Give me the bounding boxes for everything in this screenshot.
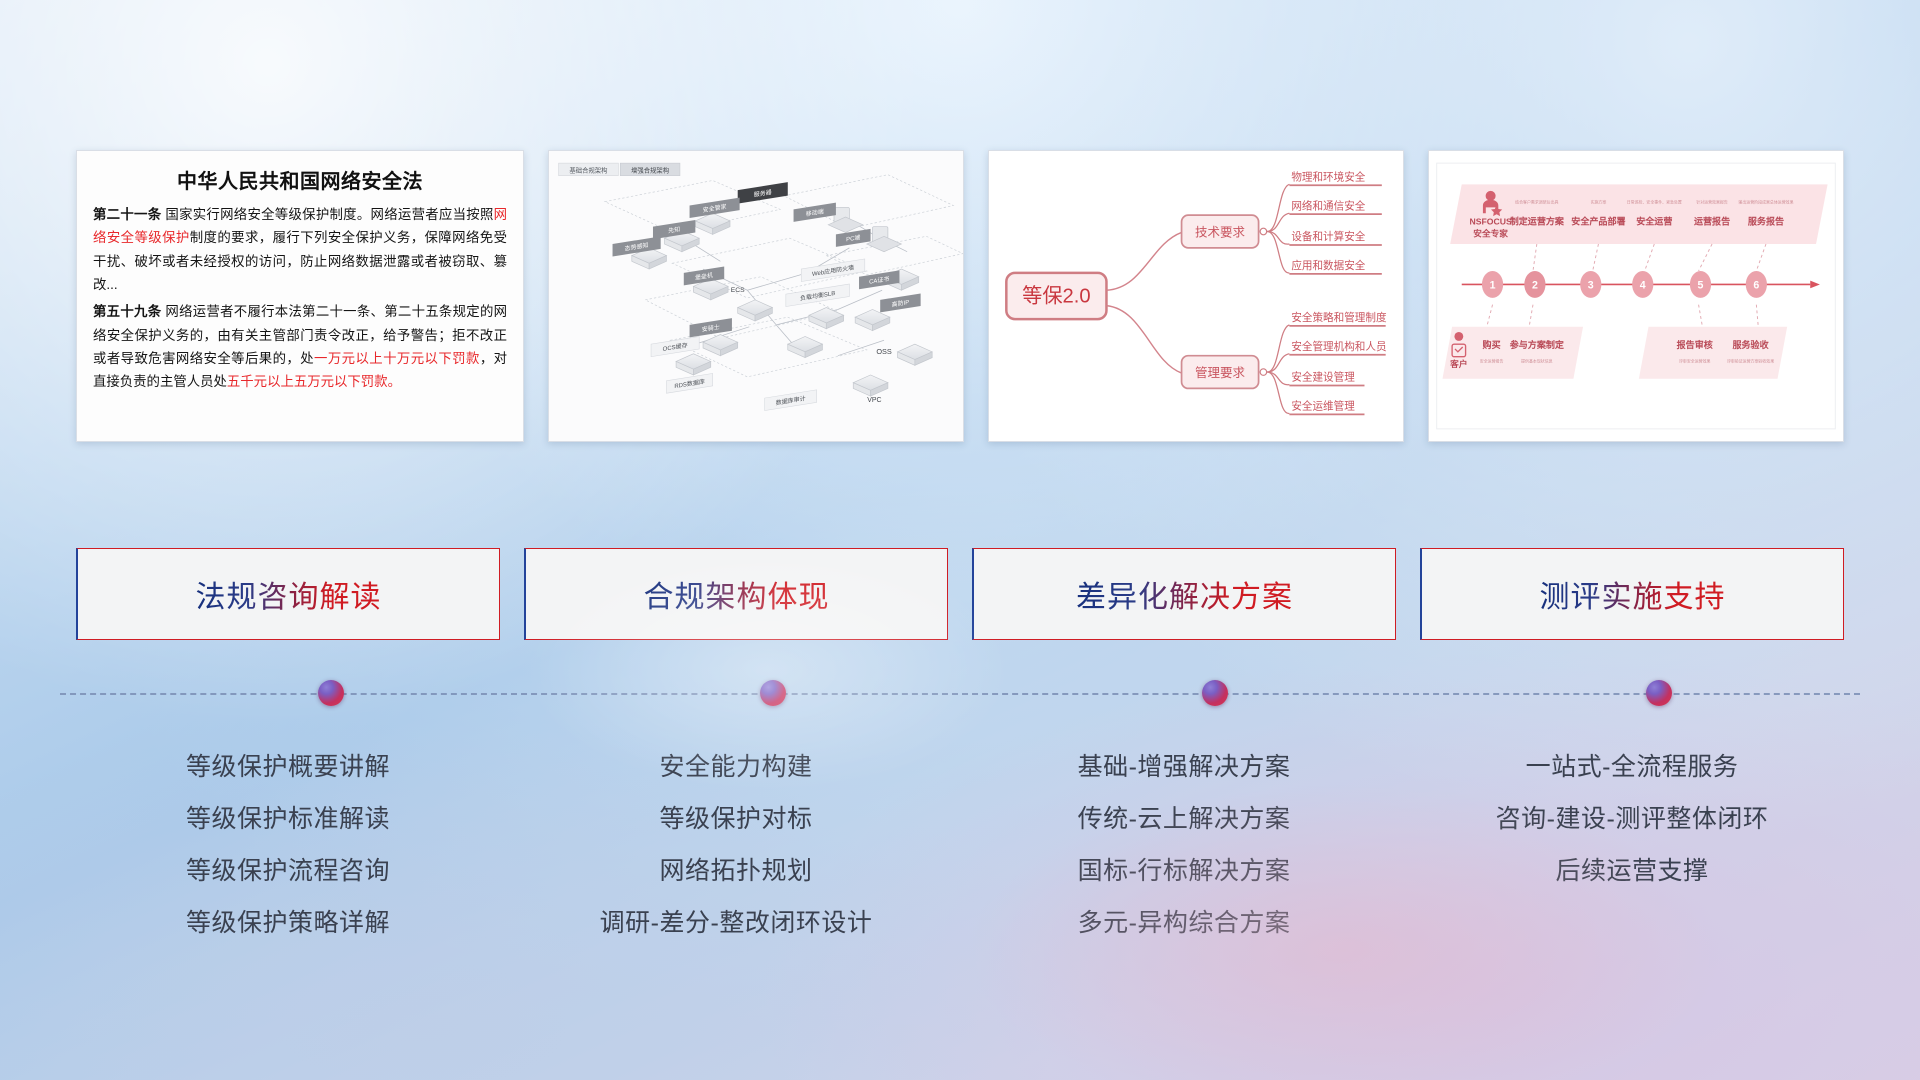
section-list-2: 基础-增强解决方案 传统-云上解决方案 国标-行标解决方案 多元-异构综合方案 — [972, 735, 1396, 975]
mindmap-svg: 等保2.0 技术要求 — [989, 151, 1403, 441]
architecture-diagram-svg: 基础合规架构 增强合规架构 — [549, 151, 963, 441]
mindmap-branch-1-label: 管理要求 — [1195, 365, 1246, 380]
top-step-3-sub: 针对运营效果报告 — [1696, 200, 1728, 205]
node-label-ecs: ECS — [731, 287, 745, 294]
bottom-step-3-sub: 评审验证运营方案验收效果 — [1727, 358, 1774, 363]
list-item: 多元-异构综合方案 — [1078, 903, 1291, 939]
top-step-0-sub: 结合客户需求调研后出具 — [1515, 200, 1558, 205]
leaf-0-0: 物理和环境安全 — [1291, 170, 1365, 183]
leaf-1-0: 安全策略和管理制度 — [1291, 311, 1387, 324]
section-title-box-3[interactable]: 测评实施支持 — [1420, 548, 1844, 640]
section-title-box-1[interactable]: 合规架构体现 — [524, 548, 948, 640]
timeline-node-4: 5 — [1698, 279, 1704, 291]
bottom-step-0-sub: 安全运营报告 — [1480, 358, 1504, 363]
top-step-3-title: 运营报告 — [1694, 216, 1730, 227]
list-item: 后续运营支撑 — [1555, 851, 1708, 887]
section-title-text-2: 差异化解决方案 — [1076, 572, 1293, 616]
article-59-highlight-b: 五千元以上五万元以下罚款。 — [227, 374, 401, 389]
leaf-1-3: 安全运维管理 — [1291, 400, 1355, 413]
article-59-highlight-a: 一万元以上十万元以下罚款 — [314, 351, 480, 366]
top-step-4-title: 服务报告 — [1748, 216, 1784, 227]
list-item: 咨询-建设-测评整体闭环 — [1496, 799, 1769, 835]
list-item: 等级保护概要讲解 — [186, 747, 390, 783]
leaf-1-2: 安全建设管理 — [1291, 371, 1355, 384]
section-title-text-0: 法规咨询解读 — [196, 572, 382, 616]
section-title-text-3: 测评实施支持 — [1540, 572, 1726, 616]
list-item: 传统-云上解决方案 — [1078, 799, 1291, 835]
card-nsfocus-service-timeline: NSFOCUS 安全专家 客户 结合客户需求调研后出具 制定运营方案 实施方案 … — [1428, 150, 1844, 442]
article-21-text-a: 国家实行网络安全等级保护制度。网络运营者应当按照 — [161, 207, 493, 222]
leaf-0-1: 网络和通信安全 — [1291, 199, 1365, 212]
list-item: 调研-差分-整改闭环设计 — [600, 903, 873, 939]
tab-basic-label: 基础合规架构 — [569, 165, 607, 174]
bottom-banner-left — [1442, 327, 1583, 379]
section-list-row: 等级保护概要讲解 等级保护标准解读 等级保护流程咨询 等级保护策略详解 安全能力… — [76, 735, 1844, 975]
leaf-1-1: 安全管理机构和人员 — [1291, 340, 1386, 353]
timeline-node-3: 4 — [1640, 279, 1646, 291]
card-mindmap-dengbao: 等保2.0 技术要求 — [988, 150, 1404, 442]
list-item: 等级保护对标 — [659, 799, 812, 835]
timeline-node-2: 3 — [1588, 279, 1594, 291]
top-step-0-title: 制定运营方案 — [1510, 216, 1565, 227]
bottom-step-0-title: 购买 — [1483, 339, 1501, 350]
section-title-box-0[interactable]: 法规咨询解读 — [76, 548, 500, 640]
card-cybersecurity-law: 中华人民共和国网络安全法 第二十一条 国家实行网络安全等级保护制度。网络运营者应… — [76, 150, 524, 442]
list-item: 等级保护流程咨询 — [186, 851, 390, 887]
bottom-step-1-title: 参与方案制定 — [1510, 339, 1564, 350]
timeline-marker-2 — [1202, 680, 1228, 706]
mindmap-root-label: 等保2.0 — [1022, 285, 1091, 308]
bottom-banner-right — [1639, 327, 1787, 379]
list-item: 国标-行标解决方案 — [1078, 851, 1291, 887]
expert-name: NSFOCUS — [1469, 217, 1512, 227]
leaf-0-2: 设备和计算安全 — [1291, 230, 1365, 243]
timeline-marker-0 — [318, 680, 344, 706]
customer-role: 客户 — [1449, 358, 1467, 369]
section-list-3: 一站式-全流程服务 咨询-建设-测评整体闭环 后续运营支撑 — [1420, 735, 1844, 975]
card-compliance-architecture: 基础合规架构 增强合规架构 — [548, 150, 964, 442]
bottom-step-3-title: 服务验收 — [1732, 339, 1769, 350]
image-card-row: 中华人民共和国网络安全法 第二十一条 国家实行网络安全等级保护制度。网络运营者应… — [76, 150, 1844, 442]
list-item: 一站式-全流程服务 — [1526, 747, 1739, 783]
leaf-0-3: 应用和数据安全 — [1291, 259, 1365, 272]
top-step-4-sub: 输出运营阶段成果总体运营效果 — [1738, 200, 1793, 205]
bottom-step-2-sub: 评审安全运营效果 — [1679, 358, 1711, 363]
top-step-2-sub: 日常巡检、安全事件、紧急处置 — [1627, 200, 1682, 205]
law-article-21: 第二十一条 国家实行网络安全等级保护制度。网络运营者应当按照网络安全等级保护制度… — [93, 203, 507, 296]
section-title-box-2[interactable]: 差异化解决方案 — [972, 548, 1396, 640]
tab-enhanced-label: 增强合规架构 — [631, 165, 669, 174]
article-59-label: 第五十九条 — [93, 304, 161, 319]
law-title: 中华人民共和国网络安全法 — [93, 165, 507, 194]
timeline-node-5: 6 — [1753, 279, 1759, 291]
dashed-timeline — [60, 692, 1860, 696]
timeline-node-1: 2 — [1532, 279, 1538, 291]
section-title-text-1: 合规架构体现 — [644, 572, 830, 616]
mindmap-branch-0-label: 技术要求 — [1195, 225, 1246, 239]
service-timeline-svg: NSFOCUS 安全专家 客户 结合客户需求调研后出具 制定运营方案 实施方案 … — [1429, 151, 1843, 441]
list-item: 等级保护策略详解 — [186, 903, 390, 939]
poster-canvas: 中华人民共和国网络安全法 第二十一条 国家实行网络安全等级保护制度。网络运营者应… — [0, 0, 1920, 1080]
expert-role: 安全专家 — [1473, 227, 1508, 238]
node-label-oss: OSS — [876, 347, 892, 356]
section-title-row: 法规咨询解读 合规架构体现 差异化解决方案 测评实施支持 — [76, 548, 1844, 640]
bottom-step-1-sub: 提供基本现状信息 — [1521, 358, 1553, 363]
list-item: 基础-增强解决方案 — [1078, 747, 1291, 783]
bottom-step-2-title: 报告审核 — [1677, 339, 1713, 350]
list-item: 等级保护标准解读 — [186, 799, 390, 835]
section-list-0: 等级保护概要讲解 等级保护标准解读 等级保护流程咨询 等级保护策略详解 — [76, 735, 500, 975]
top-step-1-title: 安全产品部署 — [1571, 216, 1625, 227]
top-step-2-title: 安全运营 — [1636, 216, 1672, 227]
law-article-59: 第五十九条 网络运营者不履行本法第二十一条、第二十五条规定的网络安全保护义务的，… — [93, 300, 507, 393]
section-list-1: 安全能力构建 等级保护对标 网络拓扑规划 调研-差分-整改闭环设计 — [524, 735, 948, 975]
timeline-node-0: 1 — [1490, 279, 1496, 291]
node-label-vpc: VPC — [867, 397, 881, 404]
list-item: 安全能力构建 — [659, 747, 812, 783]
list-item: 网络拓扑规划 — [659, 851, 812, 887]
article-21-label: 第二十一条 — [93, 207, 161, 222]
top-step-1-sub: 实施方案 — [1591, 200, 1607, 205]
timeline-marker-3 — [1646, 680, 1672, 706]
mindmap-root-node: 等保2.0 — [1006, 273, 1106, 319]
timeline-marker-1 — [760, 680, 786, 706]
